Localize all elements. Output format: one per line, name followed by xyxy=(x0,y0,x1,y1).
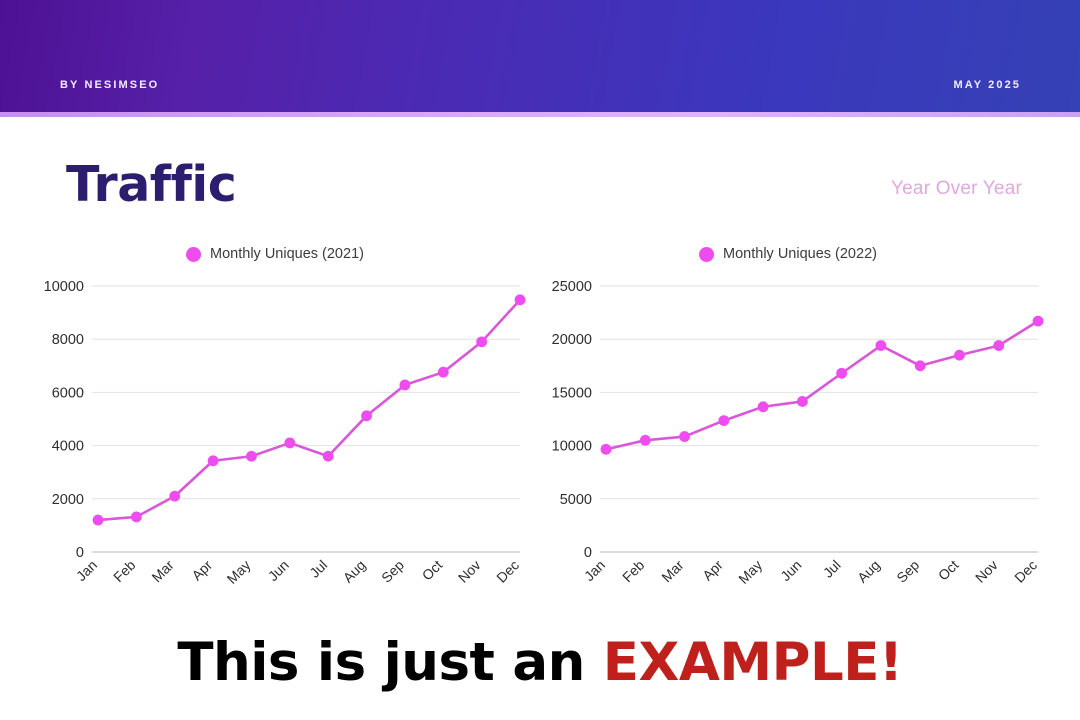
series-data-point[interactable] xyxy=(1033,316,1044,327)
series-data-point[interactable] xyxy=(323,451,334,462)
series-data-point[interactable] xyxy=(954,350,965,361)
x-axis-tick-label: Aug xyxy=(854,557,883,586)
chart-legend-2022: Monthly Uniques (2022) xyxy=(528,246,1048,262)
series-data-point[interactable] xyxy=(284,438,295,449)
x-axis-tick-label: Sep xyxy=(893,557,922,586)
x-axis-tick-label: Jul xyxy=(820,557,844,581)
legend-dot-icon xyxy=(699,247,714,262)
page-subtitle: Year Over Year xyxy=(891,178,1022,200)
y-axis-tick-label: 8000 xyxy=(52,332,84,348)
series-data-point[interactable] xyxy=(915,360,926,371)
byline-text: BY NESIMSEO xyxy=(60,79,159,91)
x-axis-tick-label: Dec xyxy=(1011,557,1040,586)
legend-label: Monthly Uniques (2021) xyxy=(210,246,364,262)
watermark-banner: This is just an EXAMPLE! xyxy=(0,632,1080,693)
y-axis-tick-label: 2000 xyxy=(52,492,84,508)
x-axis-tick-label: Aug xyxy=(340,557,369,586)
series-data-point[interactable] xyxy=(718,415,729,426)
page-title: Traffic xyxy=(66,160,236,209)
x-axis-tick-label: Mar xyxy=(658,557,687,586)
line-chart-svg-2022: 0500010000150002000025000JanFebMarAprMay… xyxy=(528,278,1048,620)
x-axis-tick-label: Apr xyxy=(699,557,726,584)
watermark-plain-text: This is just an xyxy=(177,632,602,693)
series-data-point[interactable] xyxy=(361,410,372,421)
x-axis-tick-label: Nov xyxy=(972,557,1001,586)
series-data-point[interactable] xyxy=(876,340,887,351)
y-axis-tick-label: 0 xyxy=(584,545,592,561)
series-data-point[interactable] xyxy=(836,368,847,379)
series-data-point[interactable] xyxy=(993,340,1004,351)
line-chart-svg-2021: 0200040006000800010000JanFebMarAprMayJun… xyxy=(20,278,530,620)
header-accent-line xyxy=(0,112,1080,117)
y-axis-tick-label: 20000 xyxy=(552,332,592,348)
series-data-point[interactable] xyxy=(601,444,612,455)
x-axis-tick-label: Dec xyxy=(493,557,522,586)
legend-label: Monthly Uniques (2022) xyxy=(723,246,877,262)
y-axis-tick-label: 4000 xyxy=(52,439,84,455)
series-data-point[interactable] xyxy=(93,515,104,526)
y-axis-tick-label: 15000 xyxy=(552,385,592,401)
series-data-point[interactable] xyxy=(515,294,526,305)
y-axis-tick-label: 10000 xyxy=(552,439,592,455)
header-bar xyxy=(0,0,1080,112)
plot-area-2021: 0200040006000800010000JanFebMarAprMayJun… xyxy=(20,278,530,620)
x-axis-tick-label: Nov xyxy=(455,557,484,586)
chart-panel-2022: Monthly Uniques (2022) 05000100001500020… xyxy=(528,240,1048,620)
watermark-accent-text: EXAMPLE! xyxy=(603,632,903,693)
x-axis-tick-label: Jun xyxy=(265,557,292,584)
series-line xyxy=(98,300,520,520)
series-data-point[interactable] xyxy=(476,336,487,347)
x-axis-tick-label: Feb xyxy=(110,557,139,586)
series-data-point[interactable] xyxy=(208,455,219,466)
plot-area-2022: 0500010000150002000025000JanFebMarAprMay… xyxy=(528,278,1048,620)
chart-panel-2021: Monthly Uniques (2021) 02000400060008000… xyxy=(20,240,530,620)
x-axis-tick-label: Oct xyxy=(935,557,962,584)
date-text: MAY 2025 xyxy=(953,79,1021,91)
y-axis-tick-label: 25000 xyxy=(552,279,592,295)
x-axis-tick-label: Feb xyxy=(619,557,648,586)
series-line xyxy=(606,321,1038,449)
series-data-point[interactable] xyxy=(640,435,651,446)
x-axis-tick-label: Sep xyxy=(378,557,407,586)
series-data-point[interactable] xyxy=(246,451,257,462)
legend-dot-icon xyxy=(186,247,201,262)
x-axis-tick-label: Apr xyxy=(188,557,215,584)
x-axis-tick-label: Jun xyxy=(777,557,804,584)
series-data-point[interactable] xyxy=(400,380,411,391)
series-data-point[interactable] xyxy=(131,511,142,522)
series-data-point[interactable] xyxy=(758,401,769,412)
y-axis-tick-label: 6000 xyxy=(52,385,84,401)
series-data-point[interactable] xyxy=(438,367,449,378)
chart-legend-2021: Monthly Uniques (2021) xyxy=(20,246,530,262)
x-axis-tick-label: Oct xyxy=(419,557,446,584)
series-data-point[interactable] xyxy=(169,491,180,502)
y-axis-tick-label: 5000 xyxy=(560,492,592,508)
series-data-point[interactable] xyxy=(797,396,808,407)
x-axis-tick-label: May xyxy=(735,557,765,587)
x-axis-tick-label: Jul xyxy=(306,557,330,581)
x-axis-tick-label: May xyxy=(224,557,254,587)
x-axis-tick-label: Mar xyxy=(148,557,177,586)
y-axis-tick-label: 0 xyxy=(76,545,84,561)
y-axis-tick-label: 10000 xyxy=(44,279,84,295)
series-data-point[interactable] xyxy=(679,431,690,442)
